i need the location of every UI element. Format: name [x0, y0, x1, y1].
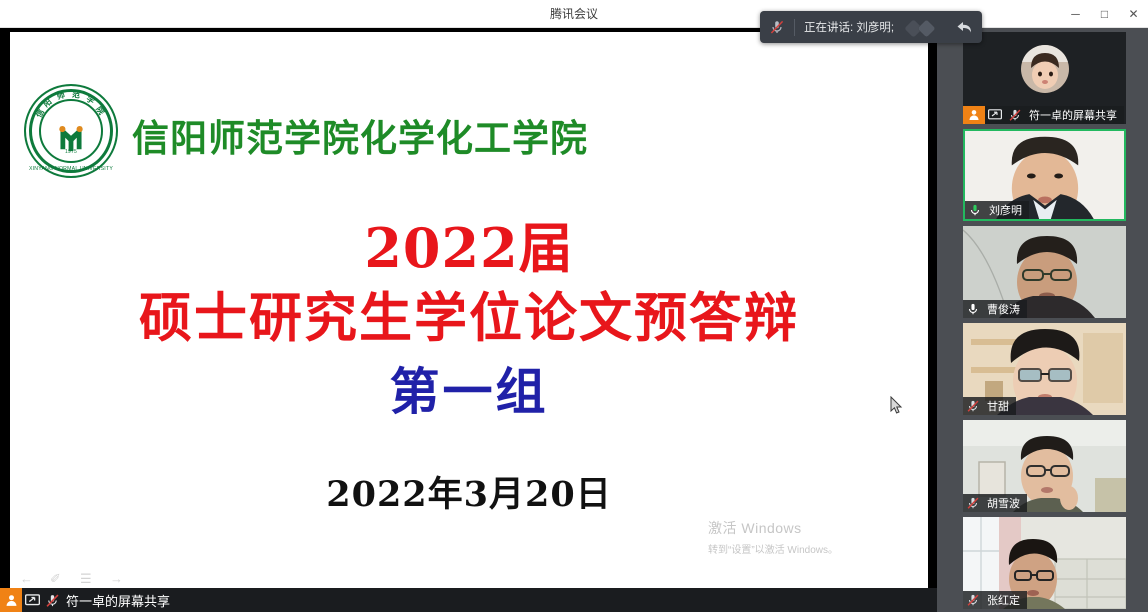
mic-muted-icon — [963, 494, 983, 512]
mic-muted-icon[interactable] — [42, 588, 62, 612]
slide-menu-icon[interactable]: ☰ — [80, 571, 96, 587]
seal-year: 1975 — [26, 149, 116, 155]
participant-name: 刘彦明 — [985, 202, 1022, 218]
participant-tile-zhanghongding[interactable]: 张红定 — [963, 517, 1126, 609]
host-person-icon — [0, 588, 22, 612]
host-person-icon — [963, 106, 985, 124]
mic-muted-icon[interactable] — [760, 19, 794, 35]
screen-share-status-bar[interactable]: 符一卓的屏幕共享 — [0, 588, 937, 612]
seal-chinese-ring-text: 信 阳 师 范 学 院 — [26, 86, 116, 176]
share-status-label: 符一卓的屏幕共享 — [62, 591, 170, 610]
participant-name: 符一卓的屏幕共享 — [1025, 107, 1117, 123]
speaking-status-text: 正在讲话: 刘彦明; — [795, 19, 902, 35]
maximize-button[interactable]: □ — [1090, 0, 1119, 28]
mic-unmuted-icon — [963, 300, 983, 318]
slide-title-year: 2022届 — [10, 204, 928, 283]
participant-tile-fuyizhuo[interactable]: 符一卓的屏幕共享 — [963, 32, 1126, 124]
next-slide-icon[interactable]: → — [110, 571, 126, 587]
tile-badge: 刘彦明 — [965, 201, 1029, 219]
mic-muted-icon — [963, 397, 983, 415]
windows-activation-watermark: 激活 Windows 转到“设置”以激活 Windows。 — [708, 518, 838, 556]
shared-screen-area[interactable]: 信 阳 师 范 学 院 1975 XINYANG NORMAL UNIVERSI… — [0, 28, 937, 612]
avatar — [1021, 45, 1069, 93]
return-arrow-icon[interactable] — [946, 20, 982, 35]
mic-muted-icon — [1005, 106, 1025, 124]
mic-muted-icon — [963, 591, 983, 609]
participant-name: 曹俊涛 — [983, 301, 1020, 317]
seal-english-text: XINYANG NORMAL UNIVERSITY — [26, 166, 116, 172]
watermark-line-2: 转到“设置”以激活 Windows。 — [708, 541, 838, 556]
participant-name: 胡雪波 — [983, 495, 1020, 511]
presenter-toolbar[interactable]: ← ✐ ☰ → — [20, 571, 126, 587]
participant-name: 张红定 — [983, 592, 1020, 608]
tile-badge: 张红定 — [963, 591, 1027, 609]
participant-name: 甘甜 — [983, 398, 1009, 414]
mouse-cursor-icon — [890, 396, 903, 415]
presentation-slide[interactable]: 信 阳 师 范 学 院 1975 XINYANG NORMAL UNIVERSI… — [10, 32, 928, 592]
slide-title-group: 第一组 — [10, 352, 928, 424]
watermark-line-1: 激活 Windows — [708, 518, 838, 538]
participant-tile-huxuebo[interactable]: 胡雪波 — [963, 420, 1126, 512]
tencent-meeting-logo-icon — [902, 17, 946, 37]
floating-speaker-toolbar[interactable]: 正在讲话: 刘彦明; — [760, 11, 982, 43]
minimize-button[interactable]: ─ — [1061, 0, 1090, 28]
slide-title-main: 硕士研究生学位论文预答辩 — [10, 276, 928, 352]
screen-share-icon[interactable] — [22, 588, 42, 612]
university-seal-logo: 信 阳 师 范 学 院 1975 XINYANG NORMAL UNIVERSI… — [24, 84, 118, 178]
tile-badge: 符一卓的屏幕共享 — [963, 106, 1124, 124]
participant-tile-caojuntao[interactable]: 曹俊涛 — [963, 226, 1126, 318]
close-button[interactable]: ✕ — [1119, 0, 1148, 28]
participant-tile-liuyanming[interactable]: 刘彦明 — [963, 129, 1126, 221]
mic-active-icon — [965, 201, 985, 219]
school-name-heading: 信阳师范学院化学化工学院 — [132, 108, 692, 162]
participant-panel[interactable]: 符一卓的屏幕共享 — [937, 28, 1148, 612]
screen-share-icon — [985, 106, 1005, 124]
tile-badge: 胡雪波 — [963, 494, 1027, 512]
window-controls: ─ □ ✕ — [1061, 0, 1148, 28]
participant-tile-list: 符一卓的屏幕共享 — [963, 30, 1126, 612]
tile-badge: 曹俊涛 — [963, 300, 1027, 318]
pen-annotate-icon[interactable]: ✐ — [50, 571, 66, 587]
previous-slide-icon[interactable]: ← — [20, 571, 36, 587]
tile-badge: 甘甜 — [963, 397, 1016, 415]
participant-tile-gantian[interactable]: 甘甜 — [963, 323, 1126, 415]
slide-date: 2022年3月20日 — [10, 466, 928, 517]
